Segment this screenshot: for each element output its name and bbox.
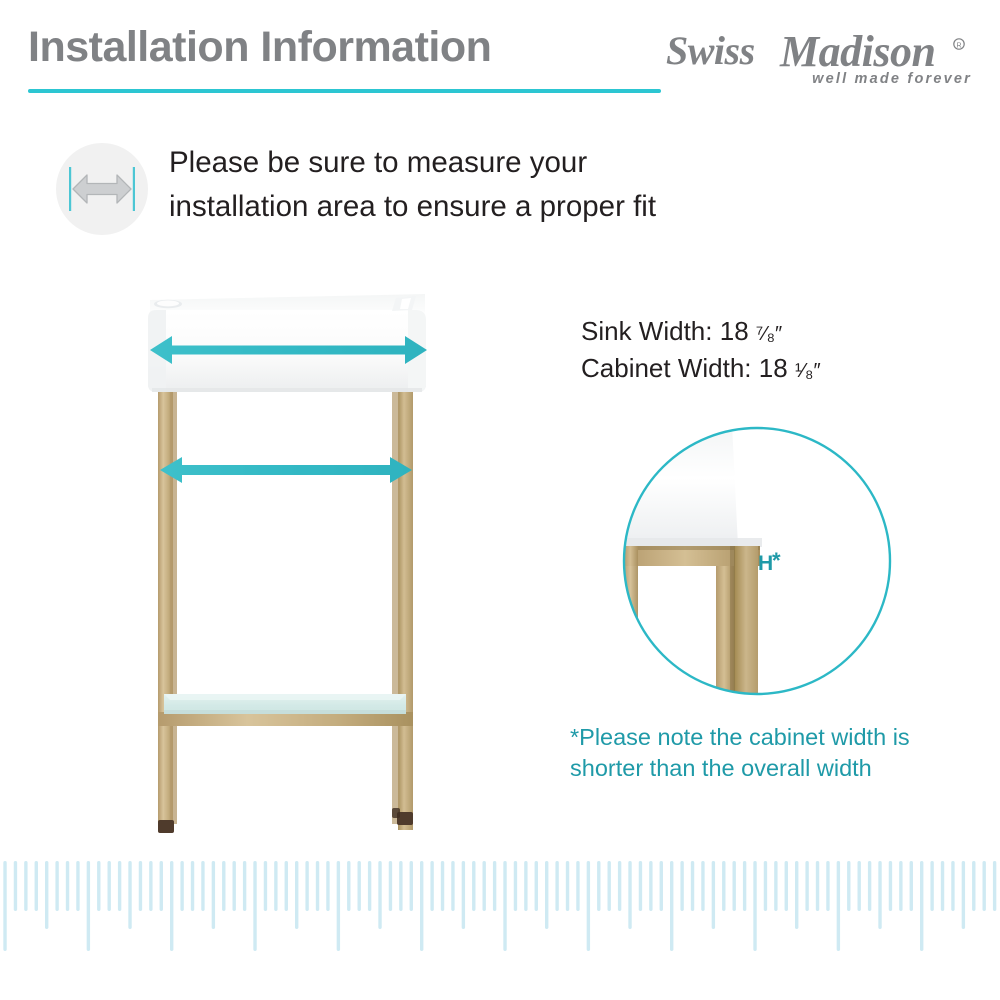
ruler-tick [889,861,892,911]
ruler-tick [951,861,954,911]
ruler-tick [774,861,777,911]
ruler-tick [97,861,100,911]
ruler-tick [691,861,694,911]
cabinet-frame [158,392,413,833]
ruler-tick [337,861,340,951]
sink-width-fraction: ⁷⁄₈″ [756,323,782,345]
ruler-tick [316,861,319,911]
page-title: Installation Information [28,23,491,72]
ruler-tick [524,861,527,911]
ruler-tick [483,861,486,911]
ruler-tick [962,861,965,929]
ruler-tick [503,861,506,951]
ruler-tick [847,861,850,911]
ruler-tick [170,861,173,951]
ruler-tick [45,861,48,929]
ruler-tick [24,861,27,911]
ruler-tick [587,861,590,951]
ruler-tick [358,861,361,911]
ruler-tick [76,861,79,911]
ruler-tick [930,861,933,911]
ruler-tick [722,861,725,911]
detail-dimension-marker: H * [758,548,781,575]
ruler-tick [733,861,736,911]
swiss-madison-logo: Swiss Madison R well made forever [666,26,978,88]
ruler-tick [608,861,611,911]
ruler-tick [243,861,246,911]
ruler-tick [295,861,298,929]
ruler-tick [14,861,17,911]
left-foot [158,820,174,833]
ruler-tick [347,861,350,911]
ruler-tick [649,861,652,911]
ruler-tick [87,861,90,951]
ruler-tick [35,861,38,911]
ruler-tick [66,861,69,911]
double-arrow-measure-icon [56,143,148,235]
detail-contents [612,418,902,708]
ruler-tick [826,861,829,911]
installation-information-page: Installation Information Swiss Madison R… [0,0,1000,1000]
detail-marker-asterisk: * [772,548,781,573]
ruler-tick [108,861,111,911]
ruler-tick [743,861,746,911]
ruler-tick [472,861,475,911]
ruler-tick [149,861,152,911]
ruler-tick [378,861,381,929]
ruler-tick [983,861,986,911]
ruler-tick [805,861,808,911]
measure-note: Please be sure to measure your installat… [56,143,756,247]
ruler-tick [660,861,663,911]
ruler-tick [462,861,465,929]
ruler-tick [253,861,256,951]
ruler-tick [972,861,975,911]
ruler-tick [670,861,673,951]
ruler-tick [680,861,683,911]
ruler-tick [701,861,704,911]
ruler-tick [514,861,517,911]
ruler-tick [910,861,913,911]
ruler-tick [274,861,277,911]
svg-text:Madison: Madison [779,27,935,76]
ruler-tick [795,861,798,929]
title-underline-rule [28,89,661,93]
ruler-tick [55,861,58,911]
ruler-tick [441,861,444,911]
ruler-tick [545,861,548,929]
ruler-tick [368,861,371,911]
ruler-tick [212,861,215,929]
svg-text:R: R [956,43,961,50]
ruler-tick [816,861,819,911]
ruler-tick [597,861,600,911]
footnote-line-2: shorter than the overall width [570,753,970,784]
ruler-tick [420,861,423,951]
ruler-tick [535,861,538,911]
ruler-tick [628,861,631,929]
cabinet-width-line: Cabinet Width: 18 ¹⁄₈″ [581,351,961,388]
dimension-list: Sink Width: 18 ⁷⁄₈″ Cabinet Width: 18 ¹⁄… [581,314,961,388]
ruler-tick [868,861,871,911]
ruler-tick [180,861,183,911]
ruler-tick [326,861,329,911]
ruler-tick [899,861,902,911]
detail-zoom-circle: H * [612,418,902,708]
ruler-tick [201,861,204,911]
ruler-tick [3,861,6,951]
ruler-tick [128,861,131,929]
ruler-tick [858,861,861,911]
sink-width-line: Sink Width: 18 ⁷⁄₈″ [581,314,961,351]
ruler-tick [451,861,454,911]
cabinet-width-fraction: ¹⁄₈″ [795,360,821,382]
ruler-tick [639,861,642,911]
ruler-tick [285,861,288,911]
detail-marker-h: H [758,552,773,575]
ruler-tick [878,861,881,929]
measure-note-line-1: Please be sure to measure your [169,141,759,185]
ruler-tick [493,861,496,911]
ruler-tick [410,861,413,911]
ruler-tick [712,861,715,929]
svg-text:well made forever: well made forever [812,71,972,87]
ruler-tick [233,861,236,911]
ruler-tick [118,861,121,911]
detail-right-leg [734,546,758,706]
ruler-decoration [0,855,1000,965]
cabinet-width-arrow [160,457,412,483]
footnote-line-1: *Please note the cabinet width is [570,722,970,753]
measure-note-text: Please be sure to measure your installat… [169,141,759,229]
product-illustration [120,280,460,850]
ruler-tick [305,861,308,911]
ruler-tick [764,861,767,911]
sink-width-value: 18 [720,316,749,346]
ruler-tick [139,861,142,911]
ruler-tick [566,861,569,911]
ruler-tick [753,861,756,951]
ruler-tick [941,861,944,911]
ruler-tick [191,861,194,911]
ruler-tick [785,861,788,911]
svg-text:Swiss: Swiss [666,28,755,73]
ruler-tick [430,861,433,911]
cabinet-width-value: 18 [759,353,788,383]
ruler-tick [576,861,579,911]
measure-icon-circle [56,143,148,235]
ruler-tick [555,861,558,911]
page-header: Installation Information Swiss Madison R… [0,0,1000,110]
sink-basin [148,294,426,392]
ruler-tick [920,861,923,951]
cabinet-width-footnote: *Please note the cabinet width is shorte… [570,722,970,784]
measure-note-line-2: installation area to ensure a proper fit [169,185,759,229]
ruler-tick [222,861,225,911]
ruler-tick [160,861,163,911]
ruler-tick [837,861,840,951]
ruler-tick [389,861,392,911]
ruler-tick [264,861,267,911]
ruler-tick [399,861,402,911]
ruler-tick [993,861,996,911]
ruler-tick [618,861,621,911]
sink-width-label: Sink Width: [581,316,713,346]
cabinet-width-label: Cabinet Width: [581,353,752,383]
